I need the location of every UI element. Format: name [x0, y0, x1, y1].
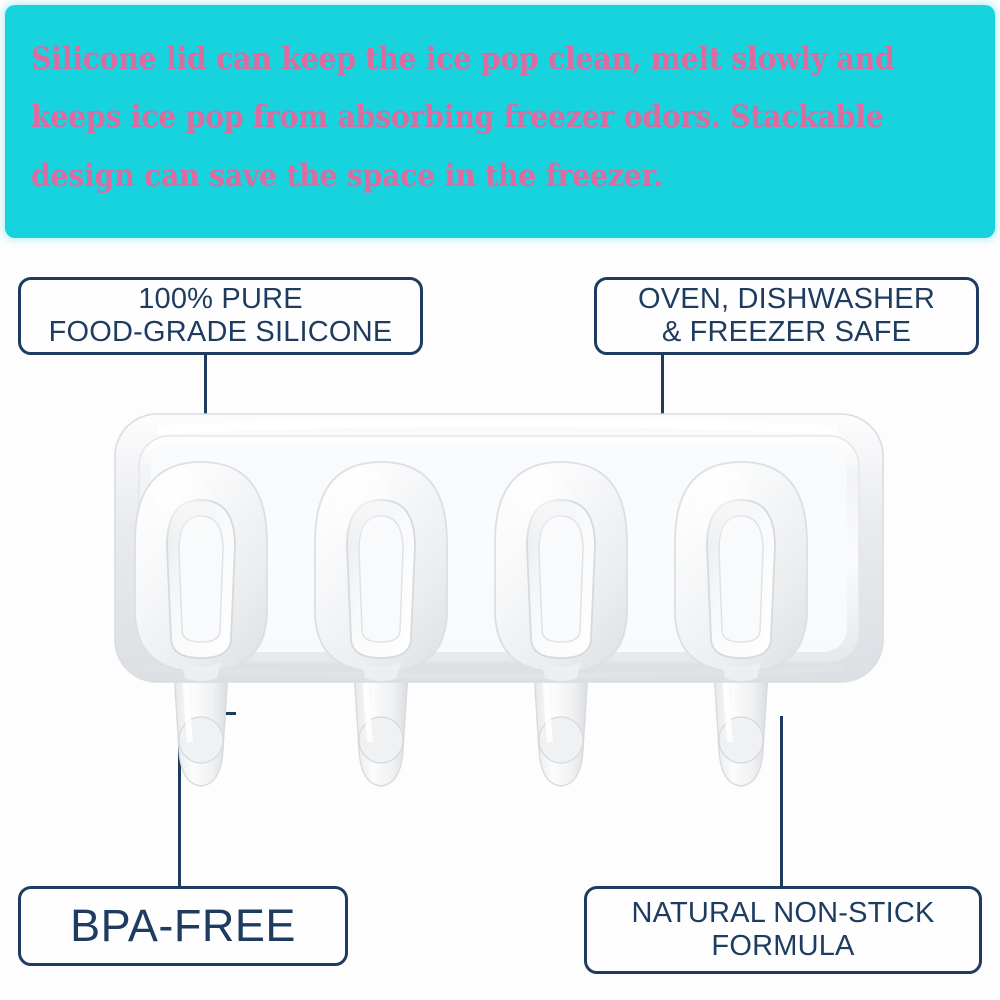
callout-oven-line1: OVEN, DISHWASHER [638, 283, 935, 315]
callout-food-grade-silicone[interactable]: 100% PURE FOOD-GRADE SILICONE [18, 277, 423, 355]
mold-cavity [315, 462, 447, 672]
promo-banner-inner: Silicone lid can keep the ice pop clean,… [5, 24, 995, 220]
mold-cavity [675, 462, 807, 672]
callout-nonstick-text: NATURAL NON-STICK FORMULA [631, 897, 934, 963]
callout-bpa-free[interactable]: BPA-FREE [18, 886, 348, 966]
callout-food-grade-text: 100% PURE FOOD-GRADE SILICONE [49, 283, 393, 349]
callout-oven-line2: & FREEZER SAFE [662, 316, 911, 348]
callout-food-grade-line1: 100% PURE [138, 283, 303, 315]
callout-bpa-line1: BPA-FREE [70, 900, 296, 951]
mold-illustration [105, 400, 895, 860]
promo-banner-text: Silicone lid can keep the ice pop clean,… [31, 30, 903, 206]
callout-food-grade-line2: FOOD-GRADE SILICONE [49, 316, 393, 348]
callout-oven-text: OVEN, DISHWASHER & FREEZER SAFE [638, 283, 935, 349]
promo-banner: Silicone lid can keep the ice pop clean,… [5, 5, 995, 238]
callout-nonstick-line1: NATURAL NON-STICK [631, 897, 934, 929]
callout-natural-non-stick-formula[interactable]: NATURAL NON-STICK FORMULA [584, 886, 982, 974]
callout-bpa-text: BPA-FREE [70, 900, 296, 951]
mold-cavity [135, 462, 267, 672]
infographic-page: Silicone lid can keep the ice pop clean,… [0, 0, 1000, 1000]
product-image-silicone-mold [105, 400, 895, 860]
callout-oven-dishwasher-freezer-safe[interactable]: OVEN, DISHWASHER & FREEZER SAFE [594, 277, 979, 355]
callout-nonstick-line2: FORMULA [711, 930, 854, 962]
mold-cavity [495, 462, 627, 672]
